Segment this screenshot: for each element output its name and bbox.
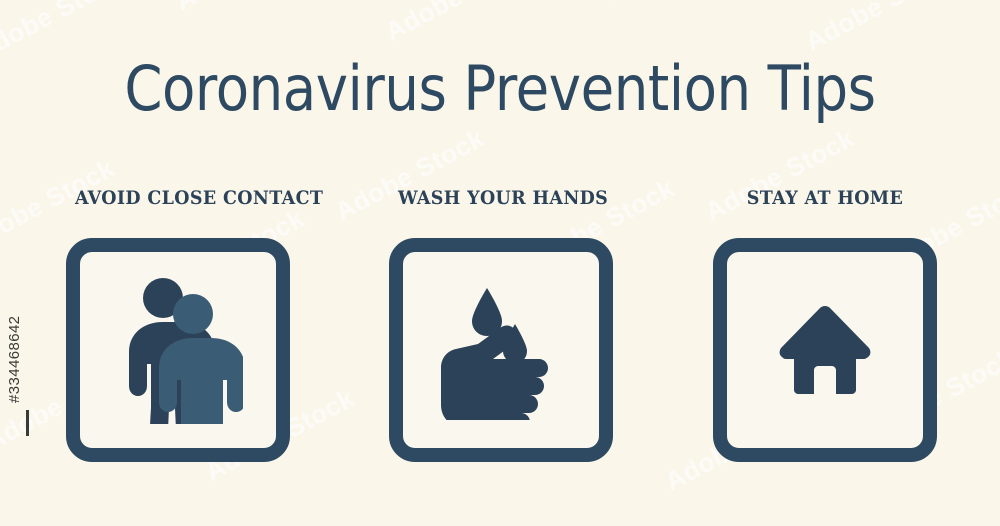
tip-heading: WASH YOUR HANDS (398, 186, 604, 210)
tip-icon-box (66, 238, 290, 462)
hand-shape (441, 326, 548, 420)
tip-icon-box (713, 238, 937, 462)
poster-canvas: Adobe Stock Adobe Stock Adobe Stock Adob… (0, 0, 1000, 526)
tip-heading: AVOID CLOSE CONTACT (75, 186, 281, 210)
house-body (794, 352, 856, 394)
tip-card-avoid-close-contact: AVOID CLOSE CONTACT (66, 186, 290, 462)
tips-row: AVOID CLOSE CONTACT WASH YOU (0, 0, 1000, 526)
tip-card-wash-your-hands: WASH YOUR HANDS (389, 186, 613, 462)
tip-icon-box (389, 238, 613, 462)
house-icon (777, 306, 873, 394)
house-roof (780, 306, 871, 359)
hand-washing-icon (431, 280, 571, 420)
water-droplet-large (472, 288, 502, 336)
tip-card-stay-at-home: STAY AT HOME (713, 186, 937, 462)
tip-heading: STAY AT HOME (722, 186, 928, 210)
two-people-icon (113, 276, 243, 424)
